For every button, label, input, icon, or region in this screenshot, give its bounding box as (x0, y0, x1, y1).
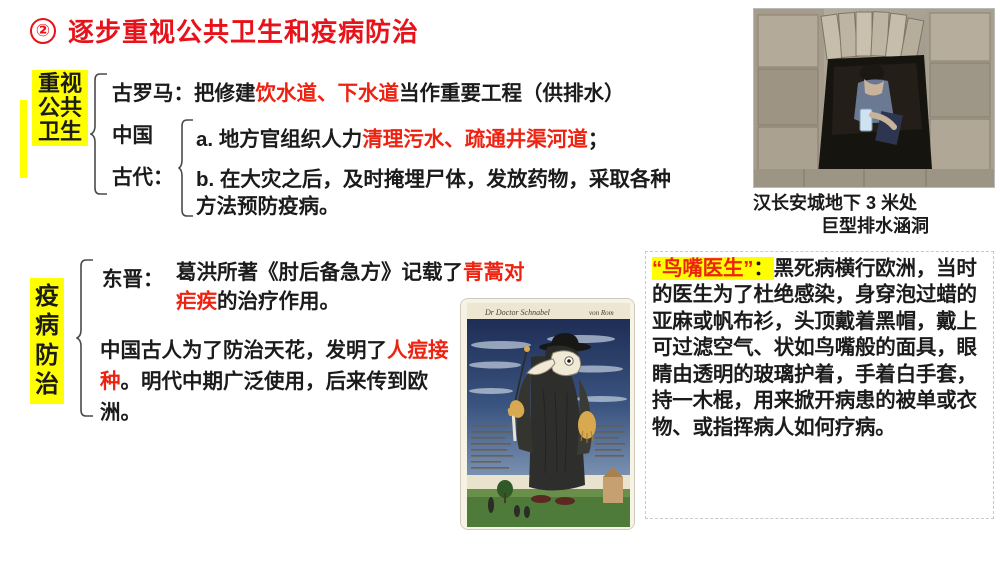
drain-caption-line1: 汉长安城地下 3 米处 (753, 193, 917, 213)
bird-doctor-title-highlight: “鸟嘴医生”： (652, 257, 774, 280)
bird-doctor-body: 黑死病横行欧洲，当时的医生为了杜绝感染，身穿泡过蜡的亚麻或帆布衫，头顶戴着黑帽，… (652, 257, 977, 439)
plague-doctor-illustration: Dr Doctor Schnabel von Rom (461, 299, 635, 530)
epidemic-tag-line-1: 疫 (35, 283, 59, 310)
bird-doctor-colon: ： (753, 257, 773, 280)
han-changan-drain-photo (753, 8, 995, 188)
china-item-a-emphasis: 清理污水、疏通井渠河道 (362, 128, 588, 151)
ancient-rome-before: 把修建 (194, 82, 256, 105)
ancient-rome-label: 古罗马： (112, 82, 194, 105)
smallpox-before: 中国古人为了防治天花，发明 (100, 339, 367, 362)
drain-photo-caption: 汉长安城地下 3 米处 巨型排水涵洞 (753, 192, 997, 238)
ancient-china-label-line1: 中国 (112, 124, 153, 148)
ancient-rome-emphasis: 饮水道、下水道 (256, 82, 400, 105)
bird-doctor-quote-open: “ (652, 257, 662, 280)
eastern-jin-part2-after: 的治疗作用。 (217, 290, 340, 313)
plague-doctor-image: Dr Doctor Schnabel von Rom (460, 298, 635, 530)
epidemic-tag-line-3: 防 (35, 342, 59, 369)
hygiene-tag-line-1: 重视 (38, 71, 82, 96)
bird-doctor-textbox: “鸟嘴医生”：黑死病横行欧洲，当时的医生为了杜绝感染，身穿泡过蜡的亚麻或帆布衫，… (645, 251, 994, 519)
epidemic-tag-line-2: 病 (35, 312, 59, 339)
plague-doctor-frame: Dr Doctor Schnabel von Rom (460, 298, 635, 530)
china-item-b: b. 在大灾之后，及时掩埋尸体，发放药物，采取各种方法预防疫病。 (196, 166, 676, 221)
epidemic-tag-line-4: 治 (35, 371, 59, 398)
drain-photo-illustration (754, 9, 994, 187)
section-number-badge: ② (30, 18, 56, 44)
china-item-a-marker: a. (196, 128, 213, 151)
china-item-a-after: ； (588, 128, 609, 151)
hygiene-tag-line-3: 卫生 (38, 119, 82, 144)
svg-text:von Rom: von Rom (589, 309, 614, 317)
china-item-a: a. 地方官组织人力清理污水、疏通井渠河道； (196, 122, 608, 152)
hygiene-section-tag: 重视 公共 卫生 (32, 70, 88, 146)
epidemic-section-tag: 疫 病 防 治 (30, 278, 64, 404)
drain-caption-line2: 巨型排水涵洞 (753, 215, 997, 238)
ancient-rome-line: 古罗马：把修建饮水道、下水道当作重要工程（供排水） (112, 76, 625, 106)
epidemic-outer-brace (76, 258, 96, 418)
bird-doctor-quote-close: ” (743, 257, 753, 280)
svg-text:Dr Doctor Schnabel: Dr Doctor Schnabel (484, 308, 551, 317)
ancient-china-label-line2: 古代： (112, 166, 174, 190)
smallpox-paragraph: 中国古人为了防治天花，发明了人痘接种。明代中期广泛使用，后来传到欧洲。 (100, 336, 452, 428)
china-items-brace (178, 118, 196, 218)
page-title-text: 逐步重视公共卫生和疫病防治 (68, 12, 419, 49)
hygiene-tag-line-2: 公共 (38, 95, 82, 120)
eastern-jin-part2-before: 了 (443, 261, 464, 284)
slide-root: ② 逐步重视公共卫生和疫病防治 重视 公共 卫生 古罗马：把修建饮水道、下水道当… (0, 0, 1000, 563)
china-item-b-text: 在大灾之后，及时掩埋尸体，发放药物，采取各种方法预防疫病。 (196, 168, 671, 218)
eastern-jin-part1: 葛洪所著《肘后备急方》记载 (176, 261, 443, 284)
hygiene-outer-brace (90, 72, 110, 196)
china-item-a-before: 地方官组织人力 (219, 128, 363, 151)
hygiene-tag-accent-bar (20, 100, 27, 178)
bird-doctor-title: 鸟嘴医生 (662, 257, 743, 280)
bird-doctor-text: “鸟嘴医生”：黑死病横行欧洲，当时的医生为了杜绝感染，身穿泡过蜡的亚麻或帆布衫，… (652, 256, 987, 441)
ancient-rome-after: 当作重要工程（供排水） (399, 82, 625, 105)
eastern-jin-label: 东晋： (102, 262, 164, 292)
smallpox-lead: 了 (367, 339, 388, 362)
page-title: ② 逐步重视公共卫生和疫病防治 (30, 12, 419, 49)
china-item-b-marker: b. (196, 168, 214, 191)
smallpox-after: 。明代中期广泛使用，后来传到欧洲。 (100, 370, 428, 424)
